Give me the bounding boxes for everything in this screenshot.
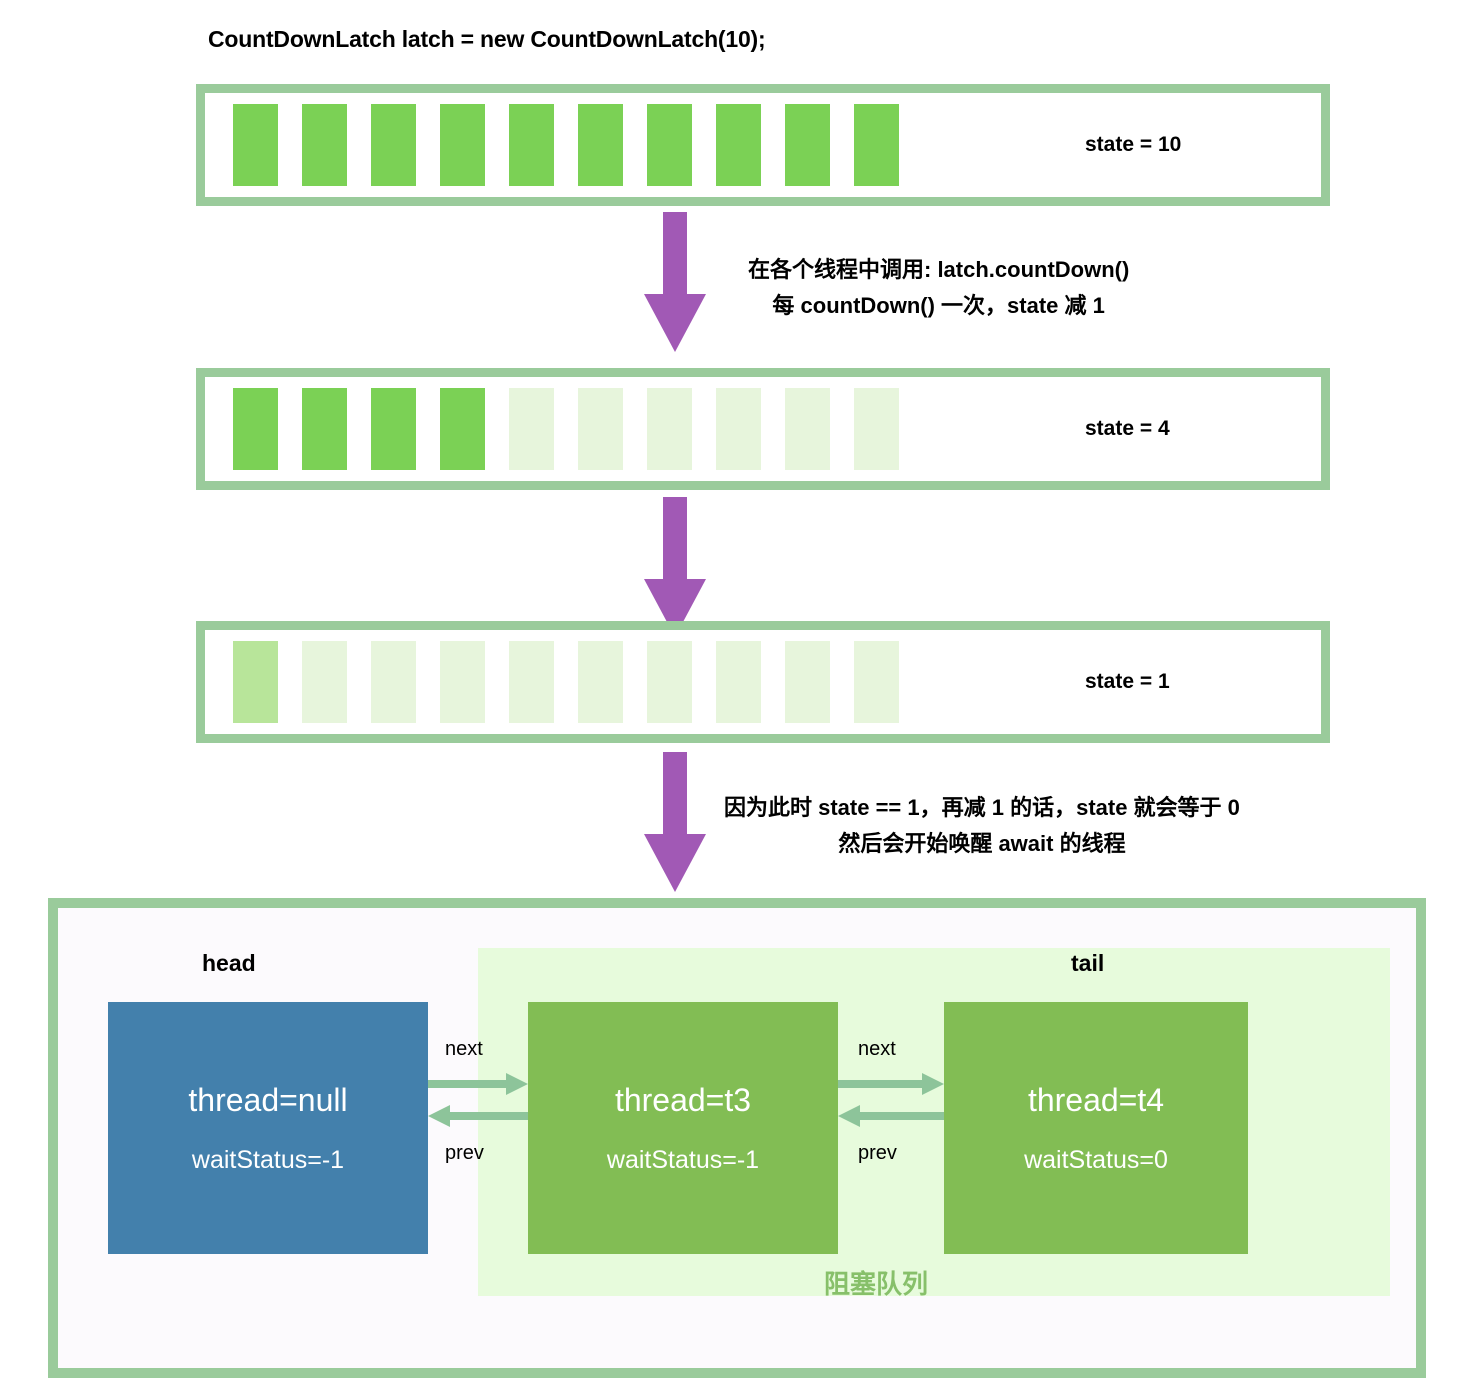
queue-node-head[interactable]: thread=null waitStatus=-1 (108, 1002, 428, 1254)
state-cell (854, 104, 899, 186)
diagram-canvas: CountDownLatch latch = new CountDownLatc… (0, 0, 1474, 1388)
state-bar-10: state = 10 (196, 84, 1330, 206)
state-cell (440, 104, 485, 186)
state-cell (647, 641, 692, 723)
state-cell (371, 104, 416, 186)
node-thread-label: thread=t3 (615, 1084, 751, 1116)
state-cell (371, 388, 416, 470)
state-cell (509, 104, 554, 186)
state-cell (716, 388, 761, 470)
state-cell (302, 388, 347, 470)
state-bar-4: state = 4 (196, 368, 1330, 490)
state-cell (509, 641, 554, 723)
annotation-line: 在各个线程中调用: latch.countDown() (748, 252, 1129, 288)
prev-label: prev (445, 1142, 484, 1165)
blocking-queue-label: 阻塞队列 (824, 1264, 928, 1301)
state-cell (647, 388, 692, 470)
state-value-label: state = 4 (1085, 417, 1170, 441)
annotation-line: 因为此时 state == 1，再减 1 的话，state 就会等于 0 (724, 790, 1240, 826)
link-t3-t4: next prev (838, 1002, 944, 1254)
state-cell (233, 388, 278, 470)
state-bar-1: state = 1 (196, 621, 1330, 743)
state-bar-10-cells (233, 104, 899, 186)
link-head-t3: next prev (428, 1002, 528, 1254)
arrow-shaft (663, 497, 687, 583)
arrow-head-icon (644, 294, 706, 352)
flow-arrow-3 (644, 752, 706, 892)
arrow-shaft (663, 752, 687, 838)
annotation-line: 然后会开始唤醒 await 的线程 (724, 826, 1240, 862)
state-cell (854, 641, 899, 723)
arrow-shaft (663, 212, 687, 298)
prev-arrow-icon (838, 1110, 944, 1122)
next-label: next (858, 1038, 896, 1061)
queue-node-t4[interactable]: thread=t4 waitStatus=0 (944, 1002, 1248, 1254)
state-cell (578, 104, 623, 186)
state-bar-4-cells (233, 388, 899, 470)
state-bar-1-cells (233, 641, 899, 723)
next-arrow-icon (428, 1078, 528, 1090)
state-cell (785, 388, 830, 470)
state-cell (716, 104, 761, 186)
node-thread-label: thread=t4 (1028, 1084, 1164, 1116)
state-cell (785, 641, 830, 723)
flow-arrow-2 (644, 497, 706, 637)
annotation-line: 每 countDown() 一次，state 减 1 (748, 288, 1129, 324)
arrow-head-icon (644, 834, 706, 892)
state-cell (302, 104, 347, 186)
state-cell (854, 388, 899, 470)
state-cell (647, 104, 692, 186)
state-cell (440, 641, 485, 723)
flow-arrow-1 (644, 212, 706, 352)
state-cell (233, 641, 278, 723)
head-caption: head (202, 950, 256, 977)
prev-label: prev (858, 1142, 897, 1165)
next-label: next (445, 1038, 483, 1061)
state-cell (716, 641, 761, 723)
state-cell (371, 641, 416, 723)
state-cell (578, 388, 623, 470)
node-waitstatus-label: waitStatus=-1 (607, 1148, 759, 1173)
state-cell (233, 104, 278, 186)
node-waitstatus-label: waitStatus=0 (1024, 1148, 1168, 1173)
state-value-label: state = 10 (1085, 133, 1181, 157)
tail-caption: tail (1071, 950, 1104, 977)
next-arrow-icon (838, 1078, 944, 1090)
state-cell (440, 388, 485, 470)
state-cell (509, 388, 554, 470)
state-value-label: state = 1 (1085, 670, 1170, 694)
node-waitstatus-label: waitStatus=-1 (192, 1148, 344, 1173)
annotation-countdown: 在各个线程中调用: latch.countDown() 每 countDown(… (748, 252, 1129, 323)
state-cell (578, 641, 623, 723)
annotation-wakeup: 因为此时 state == 1，再减 1 的话，state 就会等于 0 然后会… (724, 790, 1240, 861)
state-cell (785, 104, 830, 186)
state-cell (302, 641, 347, 723)
queue-node-t3[interactable]: thread=t3 waitStatus=-1 (528, 1002, 838, 1254)
page-title: CountDownLatch latch = new CountDownLatc… (208, 26, 765, 53)
prev-arrow-icon (428, 1110, 528, 1122)
node-thread-label: thread=null (188, 1084, 347, 1116)
